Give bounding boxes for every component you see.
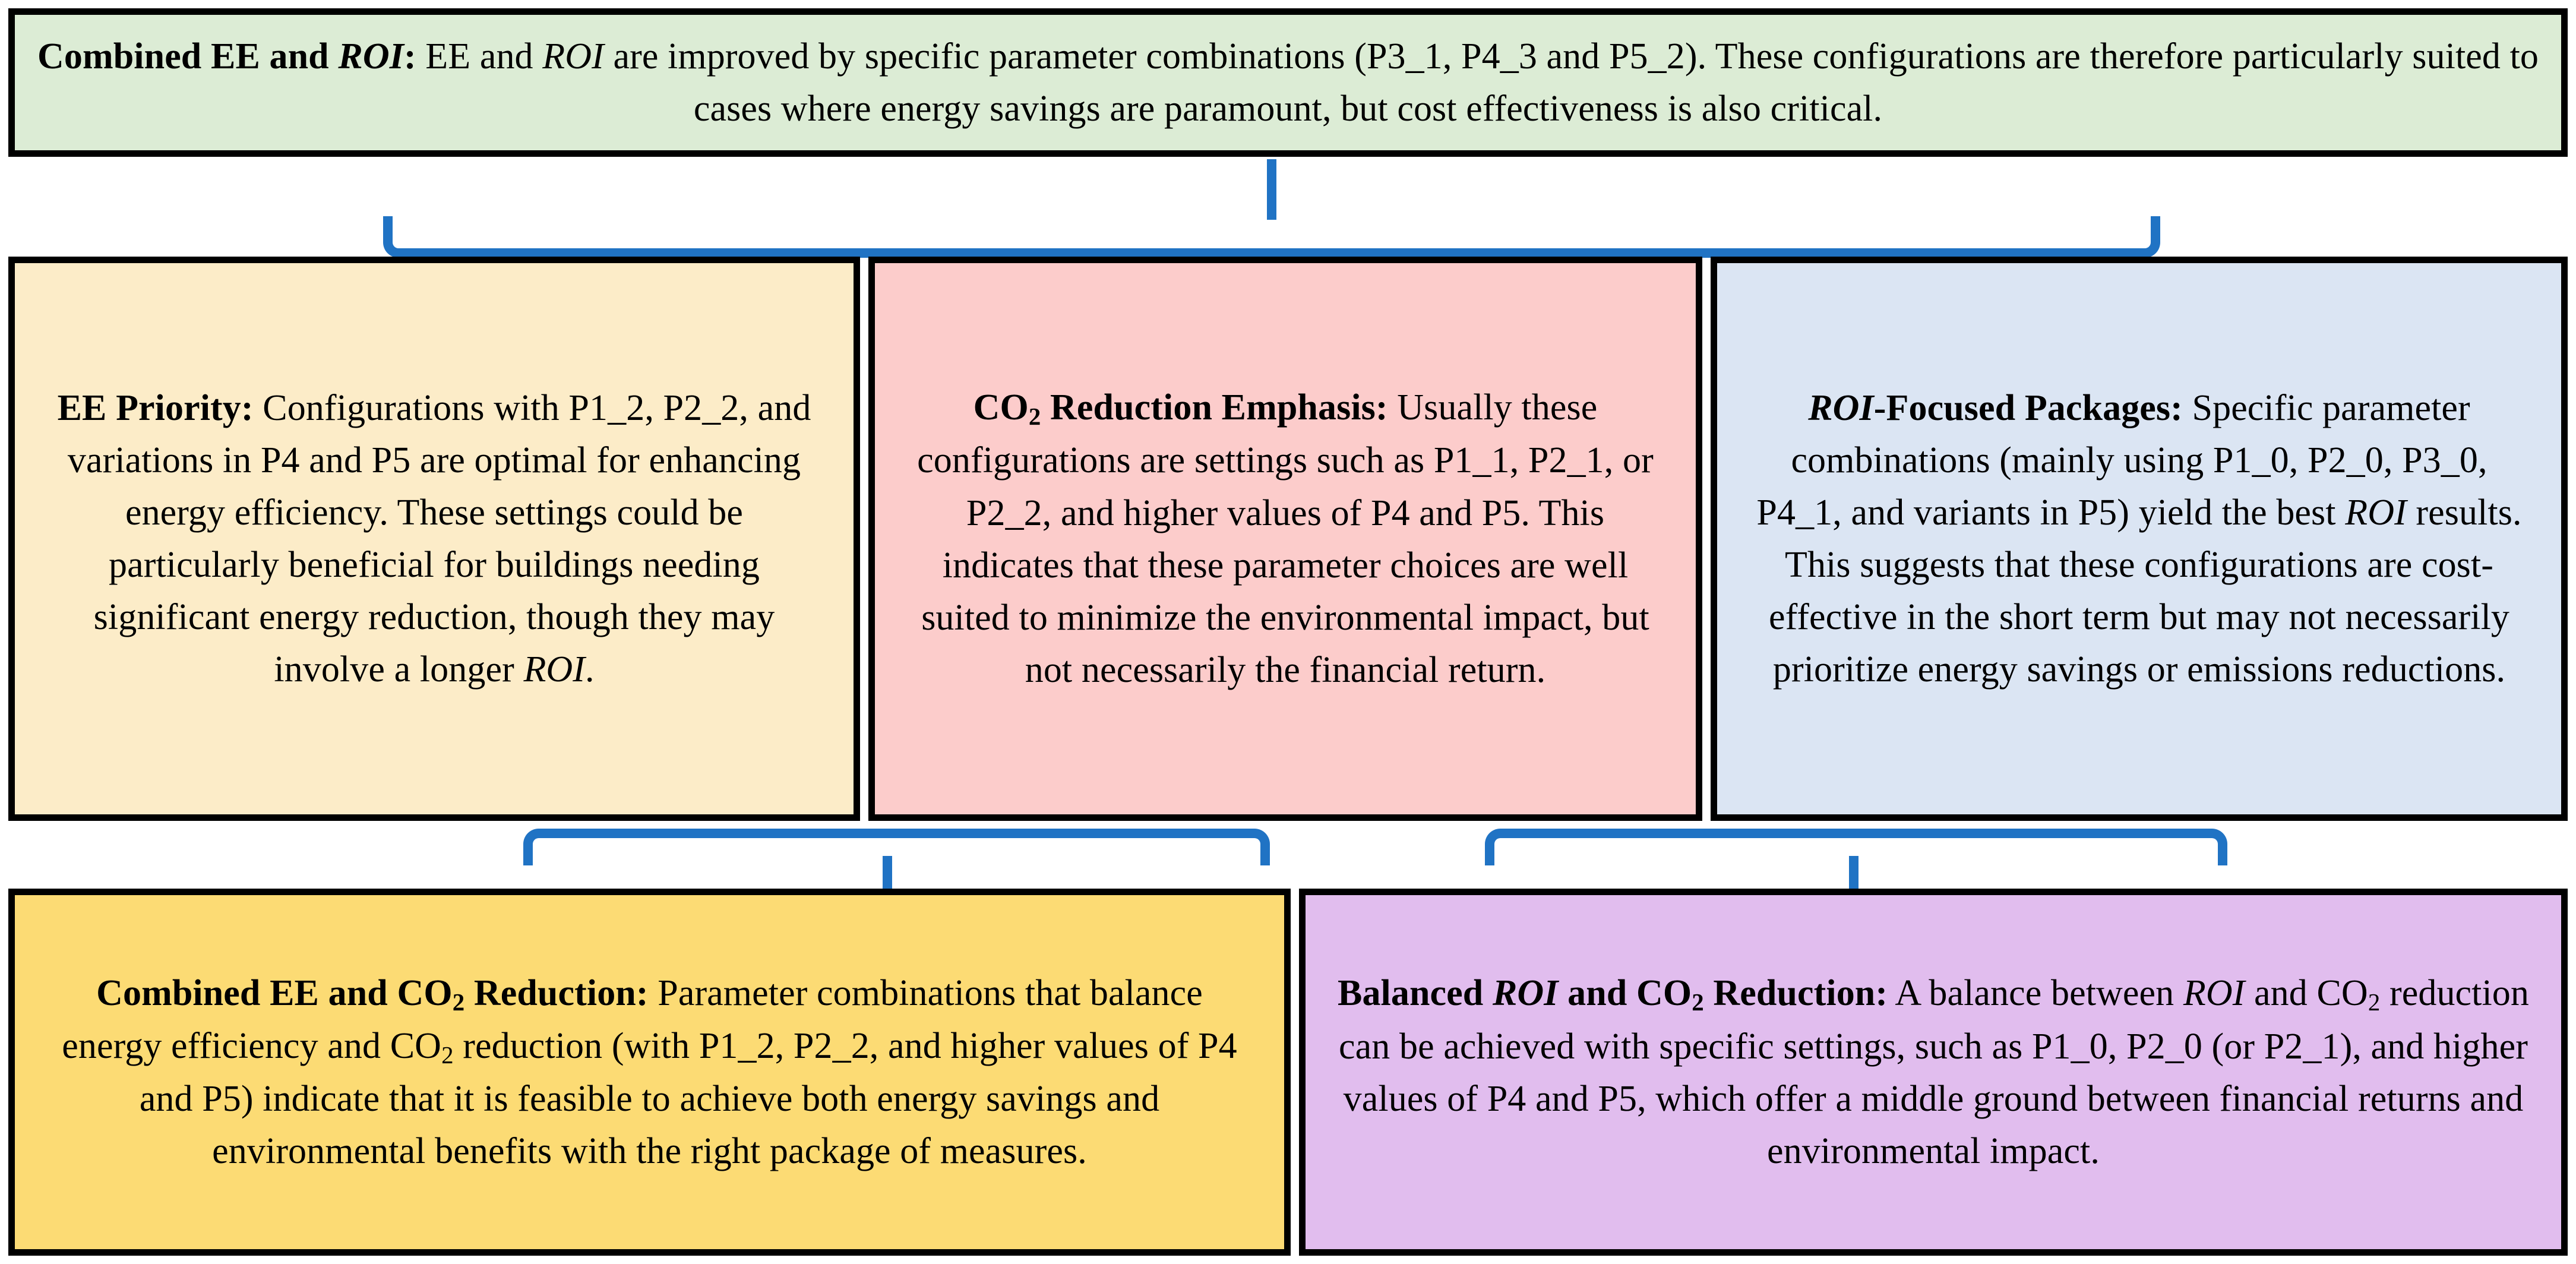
- box-co2-heading-subscript: 2: [1029, 403, 1041, 430]
- box-co2-body: Usually these configurations are setting…: [917, 387, 1654, 690]
- box-combined-ee-roi-body-italic: ROI: [542, 36, 604, 77]
- box-combined-ee-roi[interactable]: Combined EE and ROI: EE and ROI are impr…: [8, 8, 2568, 157]
- box-combined-ee-roi-heading-colon: :: [404, 36, 416, 77]
- box-ee-priority[interactable]: EE Priority: Configurations with P1_2, P…: [8, 257, 860, 821]
- box-ee-priority-body-1: Configurations with P1_2, P2_2, and vari…: [68, 388, 811, 690]
- box-co2-heading-1: CO: [973, 387, 1029, 428]
- box-ee-co2-heading-subscript: 2: [453, 989, 465, 1016]
- box-ee-co2-heading-1: Combined EE and CO: [96, 973, 453, 1013]
- box-ee-co2-heading-2: Reduction: [464, 973, 636, 1013]
- box-roi-heading-colon: :: [2170, 388, 2183, 428]
- box-roi-co2-heading-italic: ROI: [1493, 973, 1559, 1013]
- box-combined-ee-roi-body-2: are improved by specific parameter combi…: [604, 36, 2539, 129]
- box-combined-ee-roi-text: Combined EE and ROI: EE and ROI are impr…: [15, 30, 2561, 135]
- box-roi-co2-body-subscript: 2: [2368, 989, 2381, 1016]
- box-balanced-roi-co2[interactable]: Balanced ROI and CO2 Reduction: A balanc…: [1299, 889, 2568, 1256]
- box-roi-co2-heading-2: and CO: [1559, 973, 1692, 1013]
- box-ee-priority-text: EE Priority: Configurations with P1_2, P…: [15, 382, 854, 696]
- box-ee-priority-heading-colon: :: [241, 388, 254, 428]
- box-co2-reduction-emphasis-text: CO2 Reduction Emphasis: Usually these co…: [875, 381, 1696, 696]
- box-co2-heading-colon: :: [1376, 387, 1388, 428]
- box-roi-body-italic: ROI: [2345, 492, 2407, 533]
- box-ee-co2-body-subscript: 2: [441, 1042, 454, 1069]
- box-roi-co2-heading-subscript: 2: [1692, 989, 1704, 1016]
- connector-stub-bottom-right: [1849, 856, 1858, 890]
- box-roi-heading-italic: ROI: [1808, 388, 1874, 428]
- box-roi-focused-packages-text: ROI-Focused Packages: Specific parameter…: [1717, 382, 2561, 696]
- box-roi-co2-heading-1: Balanced: [1338, 973, 1493, 1013]
- box-combined-ee-roi-heading: Combined EE and: [37, 36, 338, 77]
- connector-stub-bottom-left: [883, 856, 892, 890]
- box-co2-reduction-emphasis[interactable]: CO2 Reduction Emphasis: Usually these co…: [868, 257, 1702, 821]
- box-roi-co2-body-1: A balance between: [1888, 973, 2183, 1013]
- box-ee-priority-body-2: .: [585, 649, 595, 690]
- box-co2-heading-2: Reduction Emphasis: [1041, 387, 1375, 428]
- box-combined-ee-co2-text: Combined EE and CO2 Reduction: Parameter…: [15, 967, 1284, 1177]
- box-balanced-roi-co2-text: Balanced ROI and CO2 Reduction: A balanc…: [1306, 967, 2561, 1177]
- box-ee-priority-body-italic: ROI: [523, 649, 585, 690]
- connector-bracket-bottom-left: [523, 829, 1270, 865]
- box-combined-ee-roi-heading-italic: ROI: [338, 36, 404, 77]
- diagram-canvas: Combined EE and ROI: EE and ROI are impr…: [0, 0, 2576, 1264]
- box-ee-priority-heading: EE Priority: [58, 388, 241, 428]
- box-roi-co2-body-italic: ROI: [2183, 973, 2245, 1013]
- box-roi-co2-heading-colon: :: [1875, 973, 1888, 1013]
- box-roi-heading: -Focused Packages: [1874, 388, 2170, 428]
- box-combined-ee-roi-body-1: EE and: [416, 36, 543, 77]
- connector-stub-top: [1267, 159, 1276, 220]
- box-combined-ee-co2[interactable]: Combined EE and CO2 Reduction: Parameter…: [8, 889, 1291, 1256]
- box-ee-co2-heading-colon: :: [636, 973, 649, 1013]
- box-roi-focused-packages[interactable]: ROI-Focused Packages: Specific parameter…: [1711, 257, 2568, 821]
- box-roi-co2-heading-3: Reduction: [1704, 973, 1876, 1013]
- box-roi-co2-body-2: and CO: [2245, 973, 2368, 1013]
- connector-bracket-top: [383, 216, 2160, 258]
